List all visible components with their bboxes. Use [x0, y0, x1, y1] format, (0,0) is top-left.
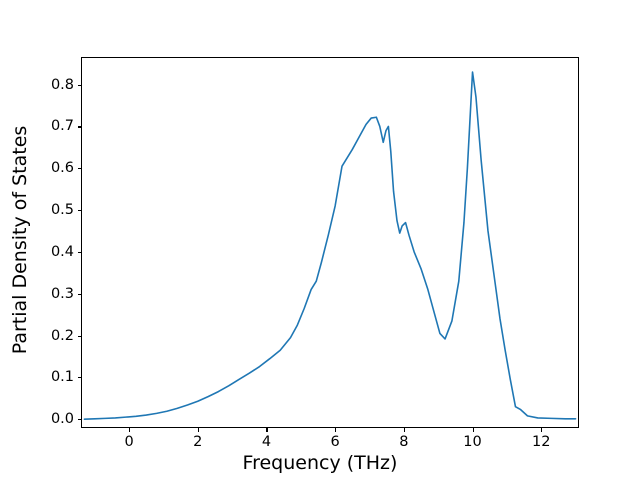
y-tick-label: 0.0: [30, 412, 74, 427]
y-tick-label: 0.1: [30, 370, 74, 385]
x-tick-label: 10: [463, 435, 481, 450]
x-axis-label: Frequency (THz): [0, 452, 640, 474]
y-tick-label: 0.4: [30, 245, 74, 260]
y-axis-label-container: Partial Density of States: [0, 0, 40, 480]
x-tick-label: 6: [331, 435, 340, 450]
y-tick-label: 0.8: [30, 77, 74, 92]
x-tick-label: 8: [399, 435, 408, 450]
x-tick-label: 2: [193, 435, 202, 450]
x-tick-mark: [473, 428, 474, 432]
figure-canvas: Partial Density of States 0.00.10.20.30.…: [0, 0, 640, 480]
y-tick-label: 0.5: [30, 203, 74, 218]
x-tick-mark: [129, 428, 130, 432]
x-tick-label: 4: [262, 435, 271, 450]
x-tick-mark: [198, 428, 199, 432]
x-tick-mark: [404, 428, 405, 432]
plot-area: [81, 57, 579, 428]
y-tick-label: 0.2: [30, 328, 74, 343]
y-tick-label: 0.6: [30, 161, 74, 176]
y-tick-label: 0.7: [30, 119, 74, 134]
dos-line-series: [84, 72, 575, 419]
x-tick-label: 0: [124, 435, 133, 450]
y-axis-label: Partial Density of States: [9, 126, 31, 355]
x-tick-label: 12: [532, 435, 550, 450]
x-tick-mark: [541, 428, 542, 432]
x-tick-mark: [266, 428, 267, 432]
x-tick-mark: [335, 428, 336, 432]
y-tick-label: 0.3: [30, 286, 74, 301]
